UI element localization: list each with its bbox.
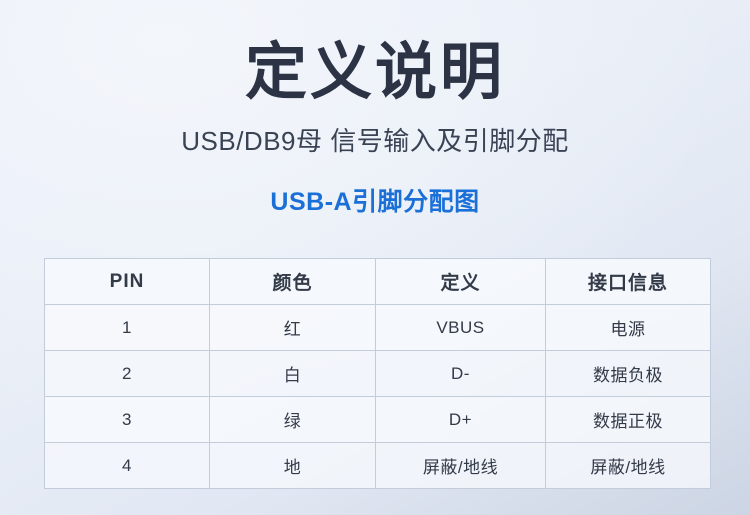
pin-assignment-table: PIN 颜色 定义 接口信息 1 红 VBUS 电源 2 白 D- 数据负极 [44, 258, 711, 489]
cell-definition: D+ [376, 397, 546, 443]
cell-interface: 屏蔽/地线 [546, 443, 711, 489]
table-row: 4 地 屏蔽/地线 屏蔽/地线 [45, 443, 711, 489]
pin-assignment-table-container: PIN 颜色 定义 接口信息 1 红 VBUS 电源 2 白 D- 数据负极 [44, 258, 710, 489]
table-row: 2 白 D- 数据负极 [45, 351, 711, 397]
page-title: 定义说明 [0, 42, 750, 104]
table-header-row: PIN 颜色 定义 接口信息 [45, 259, 711, 305]
table-row: 1 红 VBUS 电源 [45, 305, 711, 351]
cell-pin: 3 [45, 397, 210, 443]
column-header-interface: 接口信息 [546, 259, 711, 305]
cell-definition: VBUS [376, 305, 546, 351]
column-header-pin: PIN [45, 259, 210, 305]
cell-pin: 1 [45, 305, 210, 351]
cell-interface: 数据正极 [546, 397, 711, 443]
cell-color: 白 [210, 351, 376, 397]
table-row: 3 绿 D+ 数据正极 [45, 397, 711, 443]
cell-color: 绿 [210, 397, 376, 443]
cell-definition: D- [376, 351, 546, 397]
cell-color: 红 [210, 305, 376, 351]
table-body: 1 红 VBUS 电源 2 白 D- 数据负极 3 绿 D+ 数据正极 [45, 305, 711, 489]
table-header: PIN 颜色 定义 接口信息 [45, 259, 711, 305]
column-header-definition: 定义 [376, 259, 546, 305]
page-subtitle: USB/DB9母 信号输入及引脚分配 [0, 126, 750, 157]
column-header-color: 颜色 [210, 259, 376, 305]
cell-interface: 电源 [546, 305, 711, 351]
cell-pin: 4 [45, 443, 210, 489]
cell-pin: 2 [45, 351, 210, 397]
page-root: 定义说明 USB/DB9母 信号输入及引脚分配 USB-A引脚分配图 PIN 颜… [0, 0, 750, 515]
cell-definition: 屏蔽/地线 [376, 443, 546, 489]
cell-interface: 数据负极 [546, 351, 711, 397]
cell-color: 地 [210, 443, 376, 489]
header-block: 定义说明 USB/DB9母 信号输入及引脚分配 USB-A引脚分配图 [0, 0, 750, 217]
section-heading: USB-A引脚分配图 [0, 187, 750, 217]
